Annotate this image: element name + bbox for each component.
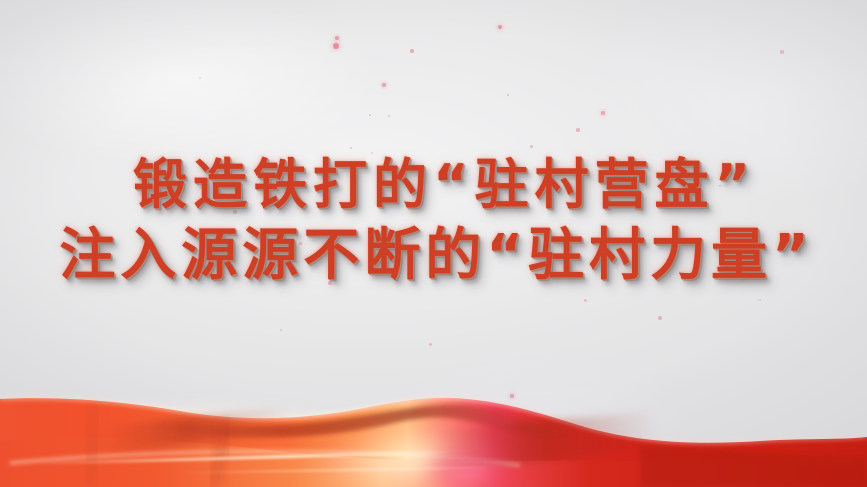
background-base [0,0,867,487]
title-card: 锻造铁打的“驻村营盘” 注入源源不断的“驻村力量” [0,0,867,487]
